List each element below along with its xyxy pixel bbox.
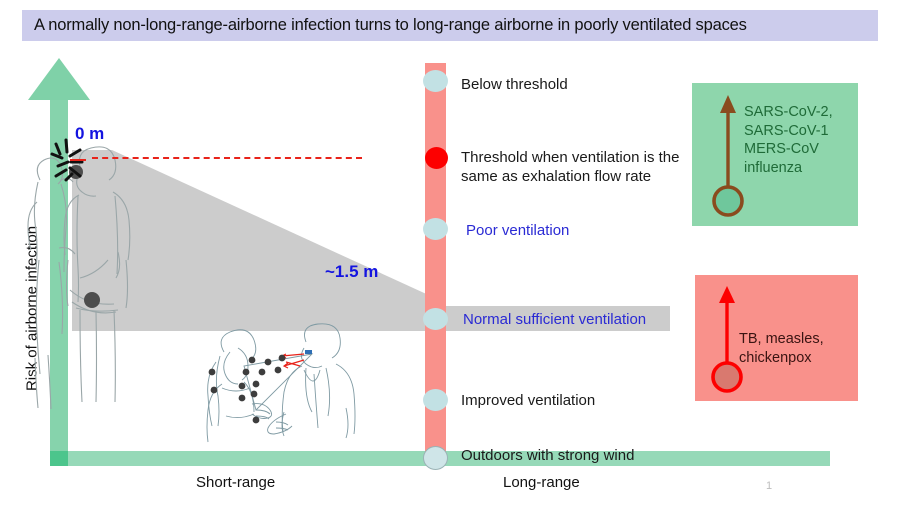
marker-dot-normal-ventilation[interactable] [423, 308, 448, 330]
marker-label-improved-ventilation: Improved ventilation [461, 391, 595, 410]
legend-red-line-1: TB, measles, [739, 330, 824, 349]
legend-red-text: TB, measles, chickenpox [739, 330, 824, 367]
page-title: A normally non-long-range-airborne infec… [22, 16, 747, 35]
legend-red-line-2: chickenpox [739, 349, 824, 368]
distance-label-1-5m: ~1.5 m [325, 262, 378, 282]
marker-label-threshold: Threshold when ventilation is the same a… [461, 148, 683, 186]
legend-green-line-3: MERS-CoV [744, 140, 833, 159]
title-banner: A normally non-long-range-airborne infec… [22, 10, 878, 41]
droplet-particle [84, 292, 100, 308]
legend-green-line-2: SARS-CoV-1 [744, 122, 833, 141]
conversation-figures-illustration [186, 322, 382, 450]
marker-label-normal-ventilation: Normal sufficient ventilation [463, 310, 646, 329]
legend-green-box: SARS-CoV-2, SARS-CoV-1 MERS-CoV influenz… [692, 83, 858, 226]
marker-dot-below-threshold[interactable] [423, 70, 448, 92]
legend-green-line-1: SARS-CoV-2, [744, 103, 833, 122]
legend-red-box: TB, measles, chickenpox [695, 275, 858, 401]
y-axis-arrowhead [28, 58, 90, 100]
x-axis-label-long-range: Long-range [503, 474, 580, 491]
marker-label-poor-ventilation: Poor ventilation [466, 221, 569, 240]
legend-green-text: SARS-CoV-2, SARS-CoV-1 MERS-CoV influenz… [744, 103, 833, 177]
marker-dot-threshold[interactable] [425, 147, 448, 169]
marker-label-outdoors: Outdoors with strong wind [461, 446, 634, 465]
slide-number: 1 [766, 480, 772, 492]
marker-dot-poor-ventilation[interactable] [423, 218, 448, 240]
x-axis-label-short-range: Short-range [196, 474, 275, 491]
marker-dot-outdoors[interactable] [423, 446, 448, 470]
threshold-dashed-line [92, 157, 362, 159]
axis-origin-corner [50, 451, 68, 466]
marker-dot-improved-ventilation[interactable] [423, 389, 448, 411]
slide-canvas: A normally non-long-range-airborne infec… [0, 0, 900, 506]
distance-label-0m: 0 m [75, 124, 104, 144]
marker-label-below-threshold: Below threshold [461, 75, 568, 94]
legend-green-line-4: influenza [744, 159, 833, 178]
